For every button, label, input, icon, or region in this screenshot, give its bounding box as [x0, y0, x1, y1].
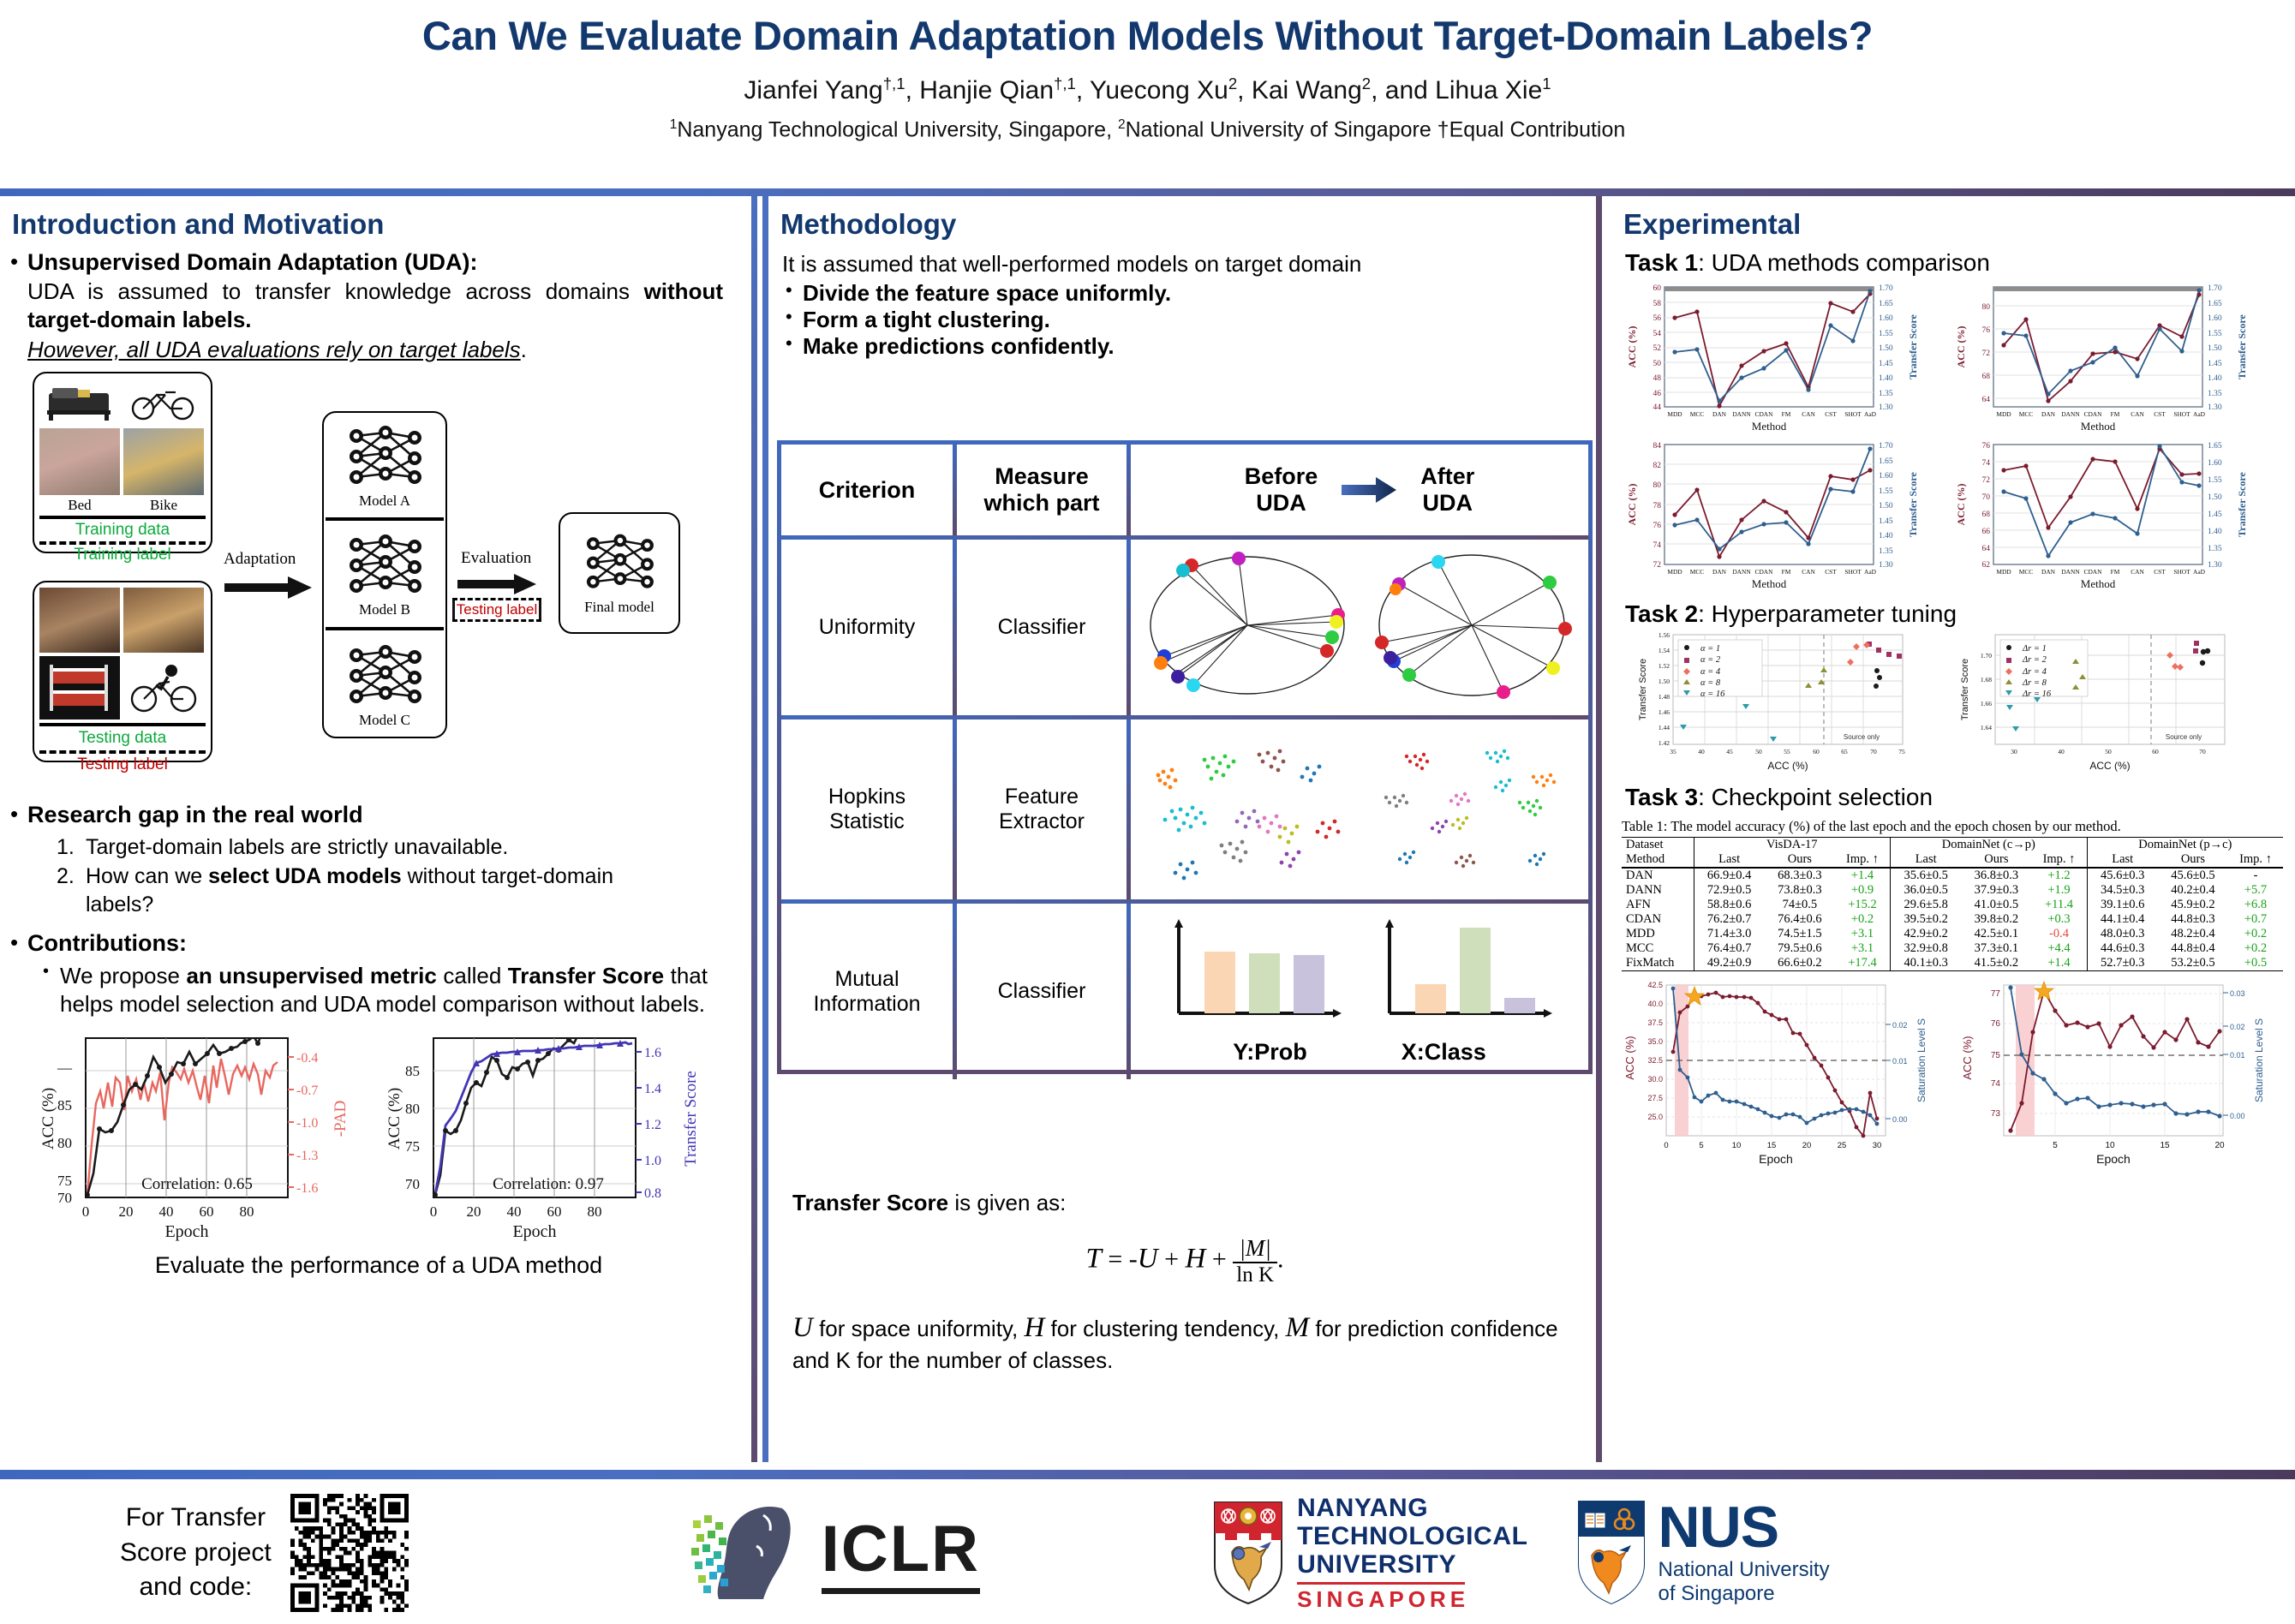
svg-text:ACC (%): ACC (%): [1767, 760, 1808, 772]
table-cell-value: +0.9: [1835, 883, 1891, 898]
formula-eq: = -: [1108, 1245, 1137, 1273]
svg-text:25: 25: [1838, 1141, 1847, 1150]
table-cell-value: 36.8±0.3: [1961, 868, 2031, 883]
table-cell-value: +3.1: [1835, 941, 1891, 956]
divider-dashed: [39, 541, 206, 545]
cell-measure-classifier-2: Classifier: [957, 904, 1127, 1079]
eval-testing-label: Testing label: [455, 601, 539, 618]
th-dataset: Dataset: [1622, 838, 1694, 853]
svg-text:1.55: 1.55: [1879, 487, 1893, 496]
left-charts-caption: Evaluate the performance of a UDA method: [0, 1252, 757, 1279]
svg-text:73: 73: [1991, 1109, 2001, 1119]
table-cell-value: 74±0.5: [1765, 898, 1835, 912]
evaluation-testing-label-box: Testing label: [452, 598, 541, 622]
svg-text:85: 85: [405, 1063, 420, 1079]
bullet-dot: •: [786, 280, 803, 307]
svg-text:76: 76: [1982, 442, 1991, 451]
table-row-group-header: Dataset VisDA-17 DomainNet (c→p) DomainN…: [1622, 838, 2283, 853]
task1-text: : UDA methods comparison: [1698, 249, 1990, 276]
svg-text:ACC (%): ACC (%): [1626, 326, 1638, 368]
svg-text:Epoch: Epoch: [2096, 1152, 2131, 1166]
table-cell-value: 71.4±3.0: [1694, 927, 1765, 941]
table-cell-method: MDD: [1622, 927, 1694, 941]
table-cell-value: +1.2: [2031, 868, 2087, 883]
criterion-table: Criterion Measure which part Before UDA: [777, 440, 1593, 1074]
table-row: Uniformity Classifier: [781, 540, 1588, 715]
list-text-a: How can we: [86, 864, 208, 888]
svg-text:40: 40: [159, 1203, 174, 1220]
legend-H: H: [1024, 1312, 1044, 1343]
chart1-xlabel: Epoch: [164, 1222, 208, 1241]
svg-text:α = 16: α = 16: [1700, 690, 1725, 699]
svg-text:1.30: 1.30: [1879, 403, 1893, 412]
table-row: DAN66.9±0.468.3±0.3+1.435.6±0.536.8±0.3+…: [1622, 868, 2283, 883]
table-row: DANN72.9±0.573.8±0.3+0.936.0±0.537.9±0.3…: [1622, 883, 2283, 898]
training-data-card: Bed Bike Training data Training label: [33, 372, 212, 553]
table1: Dataset VisDA-17 DomainNet (c→p) DomainN…: [1622, 837, 2283, 971]
ntu-logo: NANYANG TECHNOLOGICAL UNIVERSITY SINGAPO…: [1211, 1494, 1527, 1612]
svg-text:74: 74: [1653, 541, 1662, 550]
header-divider: [0, 188, 2295, 196]
criterion-table-header: Criterion Measure which part Before UDA: [781, 445, 1588, 535]
legend-M: M: [1286, 1312, 1310, 1343]
svg-text:1.40: 1.40: [1879, 374, 1893, 383]
svg-text:1.64: 1.64: [1981, 724, 1992, 731]
svg-text:CDAN: CDAN: [2084, 568, 2103, 576]
table-cell-value: 36.0±0.5: [1891, 883, 1962, 898]
svg-text:Method: Method: [1752, 420, 1787, 433]
footer-divider: [0, 1470, 2295, 1479]
svg-text:70: 70: [405, 1176, 420, 1192]
svg-text:74: 74: [1982, 459, 1991, 468]
svg-text:60: 60: [1813, 748, 1820, 755]
svg-text:DAN: DAN: [1712, 410, 1727, 418]
svg-text:1.60: 1.60: [1879, 314, 1893, 323]
cell-measure-classifier: Classifier: [957, 540, 1127, 715]
ntu-wordmark: NANYANG TECHNOLOGICAL UNIVERSITY SINGAPO…: [1297, 1494, 1527, 1612]
section-title-experimental: Experimental: [1608, 196, 2295, 246]
left-charts-row: 85 80 75 x — 70 02040 6080 Epoch ACC (%)…: [33, 1024, 757, 1254]
task3-charts-row: 42.540.037.535.0 32.530.027.525.0 0.020.…: [1618, 976, 2295, 1182]
divider-solid: [39, 516, 206, 519]
svg-text:20: 20: [1802, 1141, 1812, 1150]
table-cell-value: 37.3±0.1: [1961, 941, 2031, 956]
svg-text:70: 70: [2199, 748, 2206, 755]
svg-text:68: 68: [1982, 373, 1991, 381]
svg-text:1.45: 1.45: [2208, 510, 2222, 519]
bike-icon-photo: [123, 379, 204, 425]
svg-text:SHOT: SHOT: [2173, 410, 2190, 418]
svg-text:1.60: 1.60: [2208, 314, 2222, 323]
table-row: MDD71.4±3.074.5±1.5+3.142.9±0.242.5±0.1-…: [1622, 927, 2283, 941]
svg-text:70: 70: [1982, 493, 1991, 502]
svg-text:1.45: 1.45: [1879, 517, 1893, 526]
svg-text:85: 85: [57, 1097, 72, 1114]
models-card: Model A: [322, 411, 447, 738]
svg-text:5: 5: [1699, 1141, 1703, 1150]
svg-text:AaD: AaD: [2193, 410, 2206, 418]
svg-text:1.4: 1.4: [644, 1082, 661, 1096]
neural-net-icon: [575, 529, 664, 596]
svg-text:α = 2: α = 2: [1700, 655, 1721, 665]
svg-text:1.48: 1.48: [1658, 693, 1670, 701]
before-uda-bar-chart: [1160, 917, 1348, 1027]
table-cell-value: 44.8±0.4: [2158, 941, 2228, 956]
table-cell-value: 72.9±0.5: [1694, 883, 1765, 898]
task1-label: Task 1: [1625, 249, 1698, 276]
svg-text:35.0: 35.0: [1647, 1037, 1663, 1046]
formula-U: U: [1138, 1243, 1158, 1274]
table-cell-value: 35.6±0.5: [1891, 868, 1962, 883]
svg-text:1.65: 1.65: [1879, 300, 1893, 308]
svg-text:FM: FM: [1782, 410, 1791, 418]
iclr-head-icon: [681, 1502, 810, 1604]
task1-chart-visda: 60585654 5250484644 1.701.651.601.55 1.5…: [1622, 280, 1947, 434]
svg-text:1.0: 1.0: [644, 1154, 661, 1168]
svg-text:5: 5: [2053, 1141, 2058, 1150]
author-list: Jianfei Yang†,1, Hanjie Qian†,1, Yuecong…: [0, 75, 2295, 105]
svg-text:1.50: 1.50: [2208, 493, 2222, 502]
table-cell-value: +0.7: [2228, 912, 2283, 927]
svg-text:CDAN: CDAN: [2084, 410, 2103, 418]
ntu-l3: UNIVERSITY: [1297, 1550, 1527, 1579]
adaptation-label: Adaptation: [224, 550, 296, 569]
svg-text:1.30: 1.30: [2208, 561, 2222, 570]
formula-period: .: [1277, 1245, 1284, 1273]
svg-text:1.65: 1.65: [1879, 457, 1893, 466]
svg-text:CDAN: CDAN: [1755, 568, 1774, 576]
svg-text:1.35: 1.35: [2208, 390, 2222, 398]
svg-text:0.00: 0.00: [2230, 1112, 2245, 1120]
neural-net-icon: [338, 640, 432, 712]
neural-net-icon: [338, 529, 432, 601]
svg-text:α = 4: α = 4: [1700, 667, 1721, 677]
cell-criterion-uniformity: Uniformity: [781, 540, 953, 715]
svg-text:AaD: AaD: [1864, 410, 1877, 418]
table-cell-value: 73.8±0.3: [1765, 883, 1835, 898]
svg-text:65: 65: [1841, 748, 1848, 755]
table-row-subheader: Method Last Ours Imp. ↑ Last Ours Imp. ↑…: [1622, 852, 2283, 868]
svg-text:SHOT: SHOT: [2173, 568, 2190, 576]
svg-text:62: 62: [1982, 561, 1991, 570]
chart2-ylabel: ACC (%): [385, 1087, 403, 1149]
svg-text:1.60: 1.60: [2208, 459, 2222, 468]
chart-acc-vs-pad: 85 80 75 x — 70 02040 6080 Epoch ACC (%)…: [33, 1024, 363, 1254]
svg-text:DANN: DANN: [2061, 410, 2080, 418]
svg-text:FM: FM: [2111, 410, 2120, 418]
poster-header: Can We Evaluate Domain Adaptation Models…: [0, 0, 2295, 142]
th-dn-pc: DomainNet (p→c): [2087, 838, 2283, 853]
transfer-score-formula-block: Transfer Score is given as: T = -U + H +…: [777, 1190, 1593, 1376]
th-last-3: Last: [2087, 852, 2158, 868]
svg-text:20: 20: [467, 1203, 481, 1220]
cell-mutual-b: Information: [813, 992, 920, 1017]
svg-text:CST: CST: [1825, 568, 1837, 576]
cell-uniformity-visual: [1131, 540, 1588, 715]
svg-text:68: 68: [1982, 510, 1991, 519]
svg-text:1.68: 1.68: [1981, 676, 1992, 684]
svg-text:Saturation Level S: Saturation Level S: [1915, 1018, 1927, 1102]
svg-text:80: 80: [57, 1135, 72, 1151]
svg-text:84: 84: [1653, 442, 1662, 451]
svg-text:64: 64: [1982, 396, 1991, 404]
table-cell-value: 53.2±0.5: [2158, 956, 2228, 971]
svg-text:40: 40: [2058, 748, 2065, 755]
svg-text:—: —: [57, 1060, 73, 1076]
model-b-block: Model B: [324, 521, 445, 627]
svg-text:1.55: 1.55: [2208, 330, 2222, 338]
model-a-label: Model A: [359, 493, 410, 510]
chart2-annotation: Correlation: 0.97: [493, 1175, 604, 1193]
table-cell-value: 44.8±0.3: [2158, 912, 2228, 927]
svg-text:54: 54: [1653, 330, 1662, 338]
svg-text:50: 50: [1755, 748, 1762, 755]
svg-text:CST: CST: [2154, 568, 2166, 576]
bullet-dot: •: [786, 333, 803, 360]
table-cell-value: 48.2±0.4: [2158, 927, 2228, 941]
ntu-l1: NANYANG: [1297, 1494, 1527, 1522]
svg-text:-1.0: -1.0: [296, 1116, 318, 1131]
list-item: 2. How can we select UDA models without …: [57, 863, 723, 918]
svg-text:0: 0: [1664, 1141, 1668, 1150]
cell-measure-feature-extractor: Feature Extractor: [957, 719, 1127, 899]
nus-crest-icon: [1576, 1499, 1647, 1607]
table-cell-value: 37.9±0.3: [1961, 883, 2031, 898]
evaluation-arrow-icon: [457, 574, 536, 594]
svg-text:40: 40: [1698, 748, 1705, 755]
table-cell-method: AFN: [1622, 898, 1694, 912]
svg-text:1.35: 1.35: [1879, 390, 1893, 398]
svg-text:32.5: 32.5: [1647, 1056, 1663, 1065]
bar-label-x-class: X:Class: [1402, 1039, 1486, 1066]
th-imp-3: Imp. ↑: [2228, 852, 2283, 868]
svg-text:Epoch: Epoch: [1759, 1152, 1793, 1166]
cell-mi-visual: Y:Prob X:Class: [1131, 904, 1588, 1079]
contribution-c: called: [437, 963, 508, 988]
section-title-introduction: Introduction and Motivation: [0, 196, 757, 246]
bed-target-photo: [39, 588, 120, 653]
methodology-bullet-1: Divide the feature space uniformly.: [803, 280, 1171, 307]
svg-text:27.5: 27.5: [1647, 1094, 1663, 1102]
svg-text:CAN: CAN: [2131, 410, 2144, 418]
svg-text:Saturation Level S: Saturation Level S: [2253, 1018, 2265, 1102]
table-cell-value: +1.4: [2031, 956, 2087, 971]
label-bike: Bike: [123, 497, 204, 514]
svg-text:CST: CST: [2154, 410, 2166, 418]
task1-chart-officehome-2: 84828078 767472 1.701.651.601.55 1.501.4…: [1622, 438, 1947, 592]
table-row: FixMatch49.2±0.966.6±0.2+17.440.1±0.341.…: [1622, 956, 2283, 971]
table1-caption: Table 1: The model accuracy (%) of the l…: [1622, 818, 2295, 835]
svg-text:0.02: 0.02: [1892, 1021, 1908, 1030]
table-cell-value: 76.4±0.6: [1765, 912, 1835, 927]
header-after: After UDA: [1420, 463, 1474, 516]
task2-text: : Hyperparameter tuning: [1698, 600, 1957, 627]
header-before: Before UDA: [1245, 463, 1318, 516]
contribution-d: Transfer Score: [508, 963, 664, 988]
svg-text:1.50: 1.50: [1879, 344, 1893, 353]
svg-text:50: 50: [2105, 748, 2112, 755]
model-b-label: Model B: [359, 601, 410, 618]
svg-text:Method: Method: [1752, 577, 1787, 590]
methodology-bullets: •Divide the feature space uniformly. •Fo…: [768, 278, 1596, 360]
table-cell-value: +0.5: [2228, 956, 2283, 971]
svg-text:60: 60: [2152, 748, 2159, 755]
training-data-label: Training data: [34, 521, 211, 540]
svg-text:1.52: 1.52: [1658, 662, 1670, 670]
bikes-photo: [123, 428, 204, 495]
table-cell-value: 42.5±0.1: [1961, 927, 2031, 941]
svg-text:10: 10: [1732, 1141, 1742, 1150]
task2-chart-alpha: Source only α = 1 α = 2 α = 4 α = 8 α = …: [1634, 630, 1947, 775]
svg-text:1.70: 1.70: [1981, 652, 1992, 660]
svg-text:MCC: MCC: [2019, 568, 2034, 576]
svg-text:1.45: 1.45: [1879, 360, 1893, 368]
svg-text:FM: FM: [2111, 568, 2120, 576]
model-c-block: Model C: [324, 630, 445, 738]
bullet-dot: •: [10, 930, 27, 1019]
svg-text:78: 78: [1653, 502, 1662, 510]
svg-text:75: 75: [1898, 748, 1905, 755]
svg-text:25.0: 25.0: [1647, 1113, 1663, 1121]
svg-text:0: 0: [430, 1203, 438, 1220]
cell-hopkins-visual: [1131, 719, 1588, 899]
svg-text:MDD: MDD: [1996, 568, 2011, 576]
task3-label: Task 3: [1625, 784, 1698, 810]
svg-text:Transfer Score: Transfer Score: [2236, 314, 2248, 379]
svg-text:64: 64: [1982, 545, 1991, 553]
column-experimental: Experimental Task 1: UDA methods compari…: [1608, 196, 2295, 1462]
uda-pipeline-diagram: Bed Bike Training data Training label: [15, 368, 752, 797]
svg-text:37.5: 37.5: [1647, 1018, 1663, 1027]
table-cell-value: 58.8±0.6: [1694, 898, 1765, 912]
svg-text:Δr = 8: Δr = 8: [2022, 678, 2047, 688]
table-cell-value: -: [2228, 868, 2283, 883]
nus-big: NUS: [1658, 1500, 1830, 1555]
ntu-l2: TECHNOLOGICAL: [1297, 1522, 1527, 1550]
qr-caption-l2: Score project: [120, 1536, 272, 1571]
label-bed: Bed: [39, 497, 120, 514]
svg-text:Δr = 2: Δr = 2: [2022, 655, 2047, 665]
bed-photo: [39, 428, 120, 495]
svg-text:SHOT: SHOT: [1844, 410, 1862, 418]
table-cell-value: 40.2±0.4: [2158, 883, 2228, 898]
qr-caption-l1: For Transfer: [120, 1501, 272, 1536]
contributions-heading: Contributions:: [27, 930, 723, 957]
list-item: 1. Target-domain labels are strictly una…: [57, 833, 723, 862]
table-cell-value: 32.9±0.8: [1891, 941, 1962, 956]
header-criterion: Criterion: [781, 445, 953, 535]
svg-text:CDAN: CDAN: [1755, 410, 1774, 418]
th-ours-2: Ours: [1961, 852, 2031, 868]
chart2-xlabel: Epoch: [512, 1222, 556, 1241]
svg-text:55: 55: [1784, 748, 1790, 755]
table-cell-value: 76.2±0.7: [1694, 912, 1765, 927]
table-cell-value: +6.8: [2228, 898, 2283, 912]
formula-numerator: |M|: [1233, 1235, 1277, 1263]
svg-text:76: 76: [1991, 1019, 2001, 1029]
svg-text:ACC (%): ACC (%): [1955, 484, 1967, 526]
table-cell-value: 68.3±0.3: [1765, 868, 1835, 883]
svg-text:DANN: DANN: [2061, 568, 2080, 576]
table-cell-value: 39.8±0.2: [1961, 912, 2031, 927]
svg-text:Method: Method: [2081, 420, 2116, 433]
svg-text:DAN: DAN: [2041, 568, 2056, 576]
testing-label-label: Testing label: [34, 755, 211, 774]
svg-text:AaD: AaD: [1864, 568, 1877, 576]
svg-text:0.01: 0.01: [1892, 1057, 1908, 1066]
svg-text:ACC (%): ACC (%): [1955, 326, 1967, 368]
task1-heading: Task 1: UDA methods comparison: [1608, 249, 2295, 277]
table-cell-method: FixMatch: [1622, 956, 1694, 971]
svg-text:Transfer Score: Transfer Score: [1960, 659, 1970, 720]
methodology-intro: It is assumed that well-performed models…: [768, 246, 1596, 278]
svg-text:MDD: MDD: [1996, 410, 2011, 418]
after-uda-circle-plot: [1365, 546, 1579, 709]
section-title-methodology: Methodology: [768, 196, 1596, 246]
th-last-2: Last: [1891, 852, 1962, 868]
divider-solid-2: [39, 723, 206, 726]
chart1-y2label: -PAD: [332, 1100, 350, 1137]
bullet-research-gap: • Research gap in the real world 1. Targ…: [0, 802, 757, 921]
svg-text:80: 80: [1982, 303, 1991, 312]
neural-net-icon: [338, 421, 432, 493]
svg-text:1.70: 1.70: [1879, 442, 1893, 451]
svg-text:40: 40: [507, 1203, 522, 1220]
svg-text:α = 1: α = 1: [1700, 644, 1720, 654]
svg-text:0.8: 0.8: [644, 1186, 661, 1201]
contribution-text: We propose an unsupervised metric called…: [60, 962, 708, 1019]
after-uda-tsne-plot: [1364, 727, 1580, 892]
testing-data-label: Testing data: [34, 729, 211, 748]
research-gap-list: 1. Target-domain labels are strictly una…: [27, 833, 723, 919]
svg-text:1.70: 1.70: [2208, 284, 2222, 293]
contribution-b: an unsupervised metric: [186, 963, 436, 988]
svg-text:DANN: DANN: [1732, 568, 1751, 576]
table-cell-value: +1.4: [1835, 868, 1891, 883]
svg-text:0.02: 0.02: [2230, 1023, 2245, 1031]
svg-text:60: 60: [547, 1203, 562, 1220]
svg-text:1.66: 1.66: [1981, 700, 1992, 708]
legend-H-text: for clustering tendency,: [1044, 1316, 1285, 1341]
table-cell-value: 66.6±0.2: [1765, 956, 1835, 971]
table-cell-value: -0.4: [2031, 927, 2087, 941]
qr-code[interactable]: [290, 1494, 409, 1612]
svg-text:SHOT: SHOT: [1844, 568, 1862, 576]
svg-text:76: 76: [1653, 522, 1662, 530]
svg-text:70: 70: [1870, 748, 1877, 755]
research-gap-heading: Research gap in the real world: [27, 802, 723, 828]
svg-text:-0.4: -0.4: [296, 1051, 318, 1066]
th-imp-1: Imp. ↑: [1835, 852, 1891, 868]
svg-text:1.50: 1.50: [2208, 344, 2222, 353]
svg-text:77: 77: [1991, 989, 2001, 999]
uda-heading: Unsupervised Domain Adaptation (UDA):: [27, 249, 723, 276]
svg-text:1.30: 1.30: [1879, 561, 1893, 570]
svg-text:1.45: 1.45: [2208, 360, 2222, 368]
uda-body-a: UDA is assumed to transfer knowledge acr…: [27, 278, 644, 304]
task2-charts-row: Source only α = 1 α = 2 α = 4 α = 8 α = …: [1634, 630, 2295, 775]
svg-text:CAN: CAN: [2131, 568, 2144, 576]
methodology-bullet-2: Form a tight clustering.: [803, 307, 1050, 333]
formula-legend: U for space uniformity, H for clustering…: [777, 1301, 1593, 1376]
cell-hopkins-b: Statistic: [829, 809, 905, 834]
nus-l1: National University: [1658, 1558, 1830, 1582]
list-text-bold: select UDA models: [208, 864, 402, 888]
svg-text:-0.7: -0.7: [296, 1084, 318, 1098]
svg-text:MCC: MCC: [1690, 410, 1705, 418]
svg-text:60: 60: [200, 1203, 214, 1220]
svg-text:-1.6: -1.6: [296, 1181, 318, 1196]
